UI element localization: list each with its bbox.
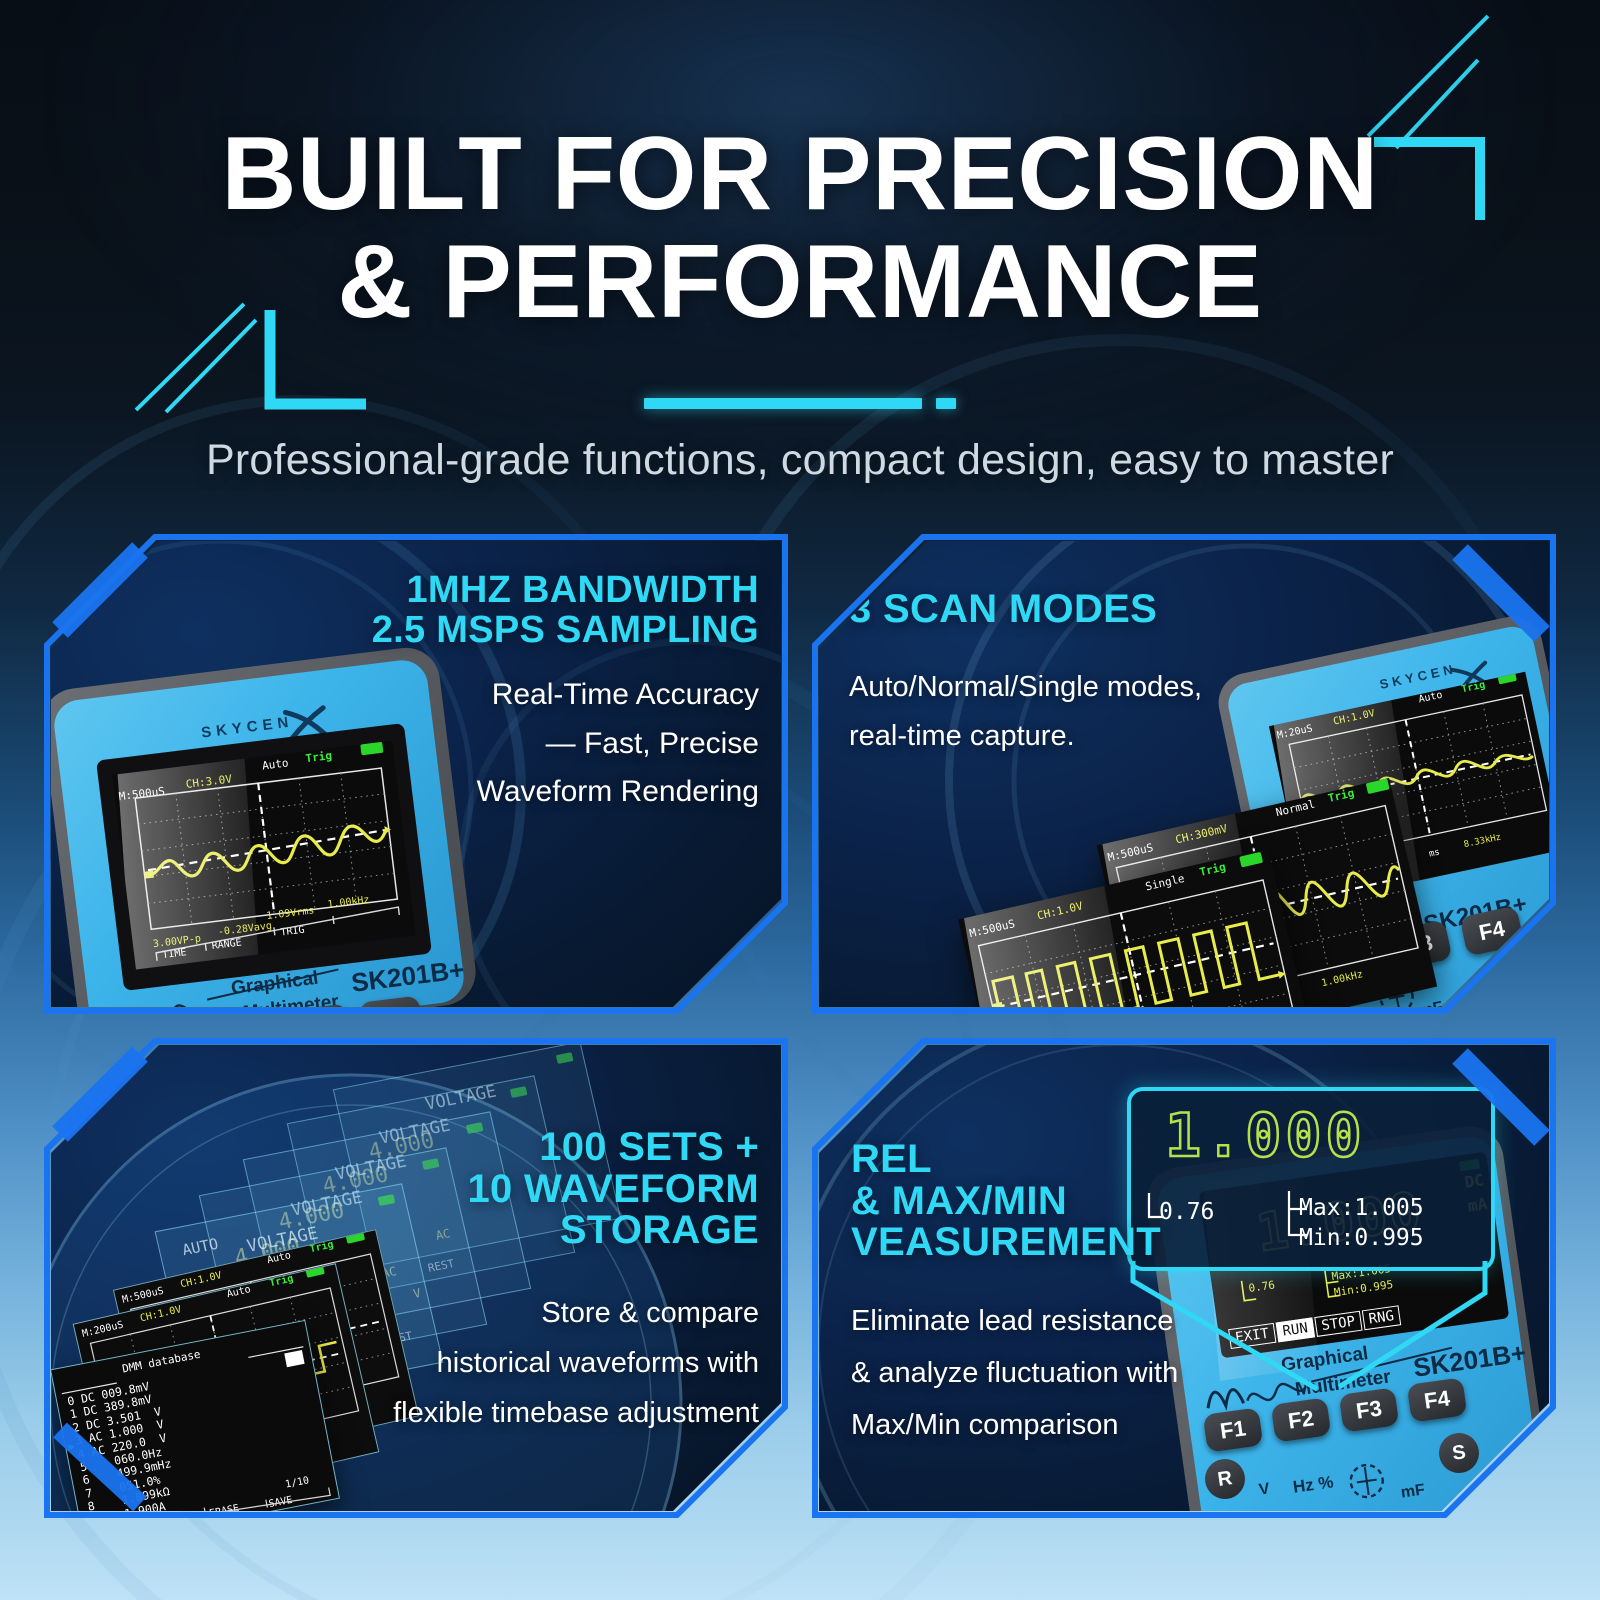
panel1-frame <box>44 534 788 1014</box>
hero-title-line1: BUILT FOR PRECISION <box>0 124 1600 226</box>
panel3-frame <box>44 1038 788 1518</box>
panel-rel-maxmin[interactable]: 1.000 DC mA 0.76 Max:1.005 Min:0.995 <box>812 1038 1556 1518</box>
panel-row-bottom: VOLTAGE 4.000 VOLTAGE 4.000 VOLTAGE 4.00… <box>44 1038 1556 1518</box>
panel-bandwidth[interactable]: SKYCEN M:500uS CH:3.0V Auto Trig <box>44 534 788 1014</box>
panel4-frame <box>812 1038 1556 1518</box>
hero-headline: BUILT FOR PRECISION & PERFORMANCE <box>0 124 1600 334</box>
marketing-banner: BUILT FOR PRECISION & PERFORMANCE Profes… <box>0 0 1600 1600</box>
hero-title-line2: & PERFORMANCE <box>0 232 1600 334</box>
panel-scan-modes[interactable]: SKYCEN M:20uS CH:1.0V Auto Trig <box>812 534 1556 1014</box>
divider-dash <box>936 398 956 409</box>
hero-subtitle: Professional-grade functions, compact de… <box>0 436 1600 485</box>
hero-divider <box>0 398 1600 409</box>
feature-panels: SKYCEN M:500uS CH:3.0V Auto Trig <box>44 534 1556 1518</box>
panel2-frame <box>812 534 1556 1014</box>
panel-row-top: SKYCEN M:500uS CH:3.0V Auto Trig <box>44 534 1556 1014</box>
divider-bar <box>644 398 922 409</box>
panel-storage[interactable]: VOLTAGE 4.000 VOLTAGE 4.000 VOLTAGE 4.00… <box>44 1038 788 1518</box>
